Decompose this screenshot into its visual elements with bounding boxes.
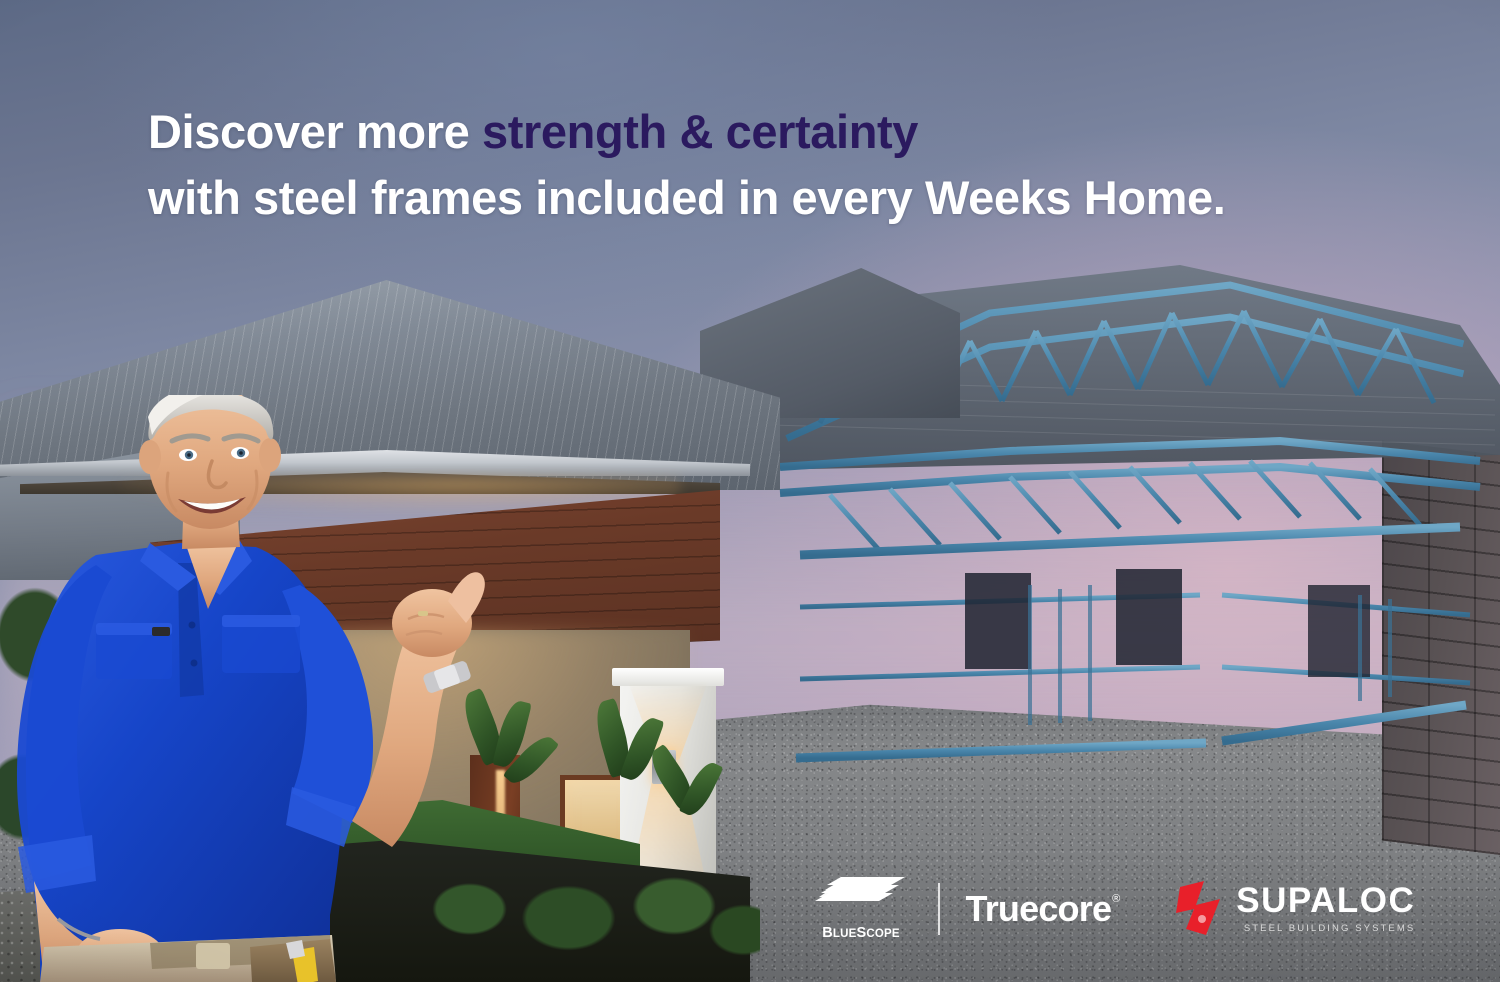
- supaloc-wordmark: SUPALOC: [1236, 883, 1415, 918]
- truecore-trademark-icon: ®: [1112, 893, 1120, 905]
- supaloc-arrow-icon: [1176, 879, 1232, 939]
- headline-accent: strength & certainty: [482, 105, 918, 158]
- headline-line-1: Discover more strength & certainty: [148, 108, 1225, 157]
- marketing-banner: Discover more strength & certainty with …: [0, 0, 1500, 982]
- bs-cope: COPE: [866, 928, 899, 940]
- bluescope-wordmark: BLUESCOPE: [822, 925, 900, 941]
- truecore-wordmark: Truecore: [966, 891, 1112, 927]
- headline: Discover more strength & certainty with …: [148, 108, 1225, 223]
- bs-b: B: [822, 925, 833, 941]
- bs-s: S: [857, 925, 867, 941]
- bluescope-wave-icon: [815, 876, 907, 922]
- truecore-logo: Truecore ®: [966, 891, 1121, 927]
- logo-divider: [938, 883, 940, 935]
- headline-line-1-prefix: Discover more: [148, 105, 482, 158]
- supaloc-logo: SUPALOC STEEL BUILDING SYSTEMS: [1176, 879, 1415, 939]
- bluescope-logo: BLUESCOPE: [810, 876, 912, 941]
- bs-lue: LUE: [833, 928, 857, 940]
- logo-lockup: BLUESCOPE Truecore ® SUPALOC STEEL BUILD…: [810, 876, 1415, 941]
- person-figure: [0, 395, 500, 982]
- supaloc-tagline: STEEL BUILDING SYSTEMS: [1236, 923, 1415, 934]
- headline-line-2: with steel frames included in every Week…: [148, 174, 1225, 223]
